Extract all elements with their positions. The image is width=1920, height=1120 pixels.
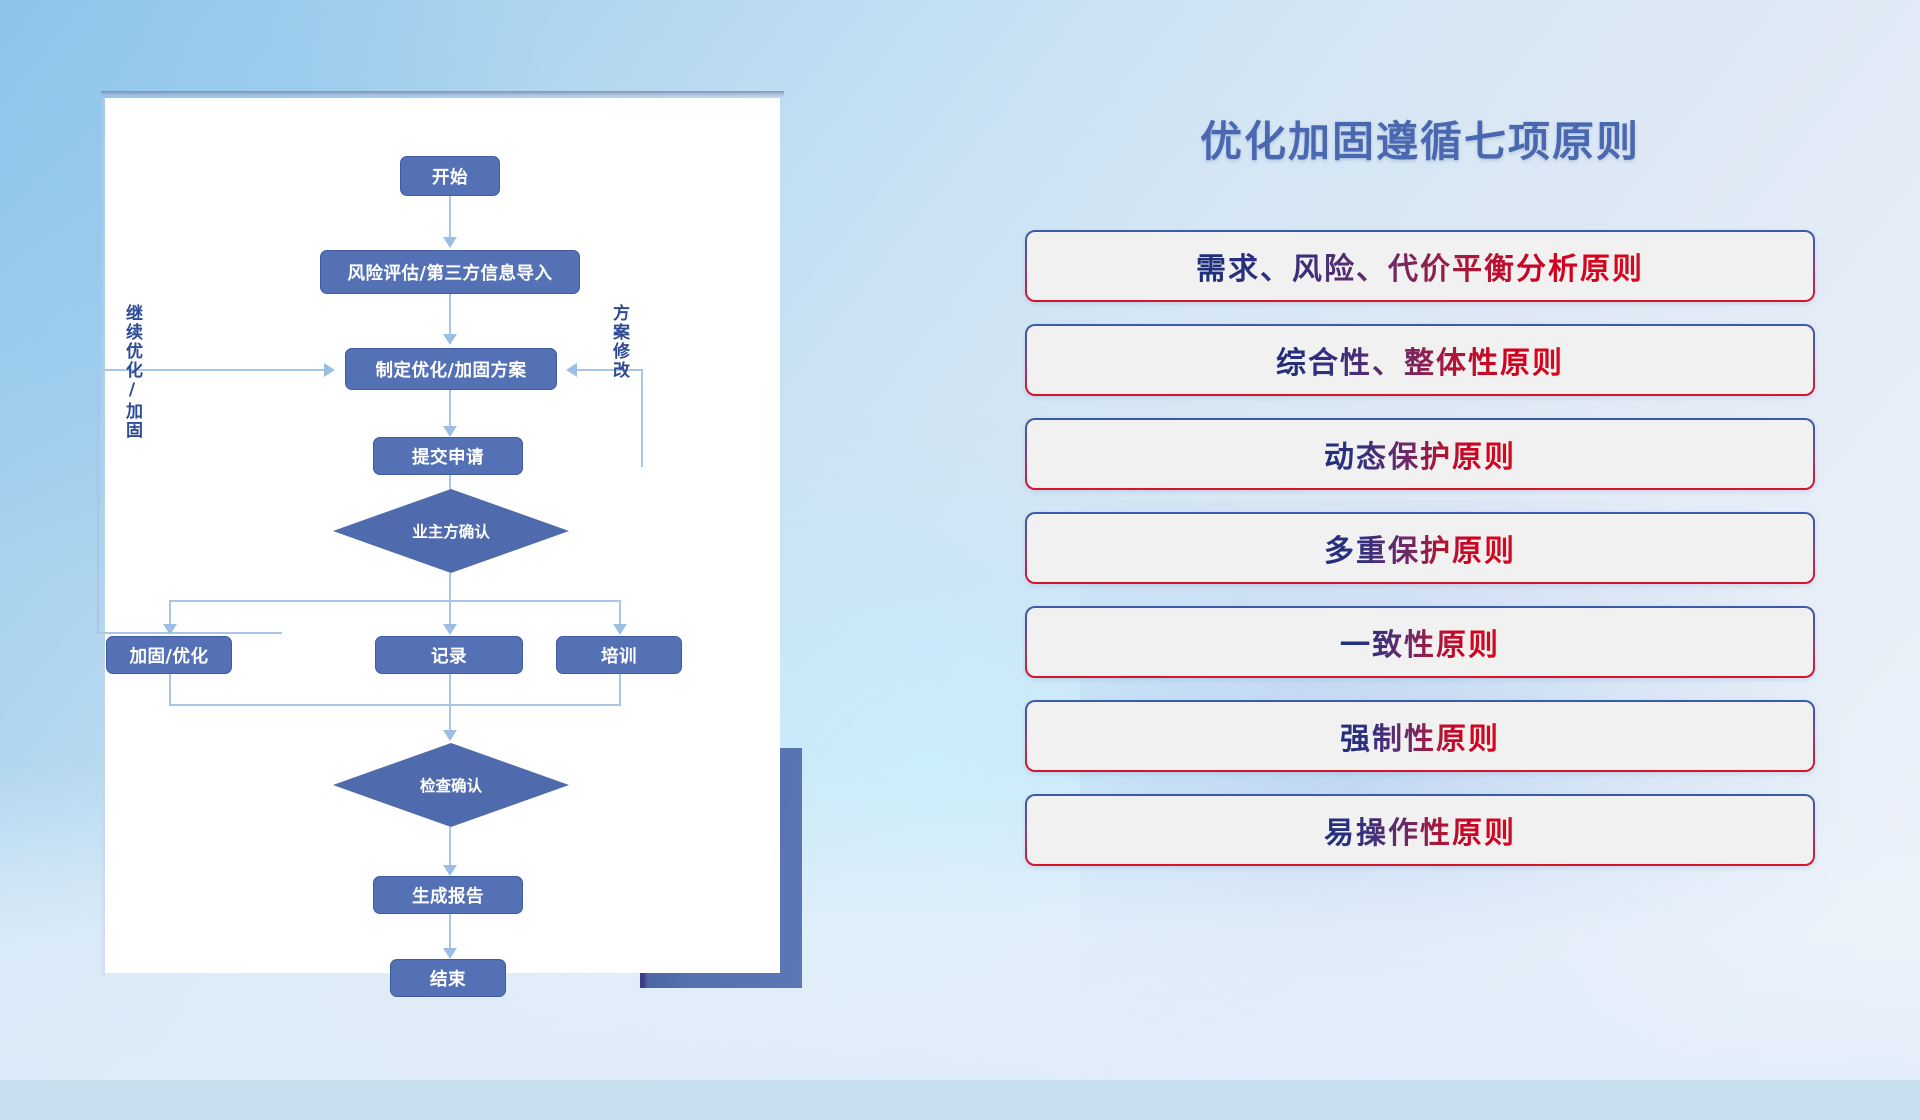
principle-item-6-label: 强制性原则 (1340, 714, 1500, 758)
connector-fanout-right (619, 600, 621, 626)
flow-node-check-confirm[interactable]: 检查确认 (333, 743, 569, 827)
principle-item-3[interactable]: 动态保护原则 (1025, 418, 1815, 490)
connector-fanout-left (169, 600, 171, 626)
flow-node-owner-confirm[interactable]: 业主方确认 (333, 489, 569, 573)
principles-panel-title: 优化加固遵循七项原则 (1010, 108, 1830, 169)
principle-item-1[interactable]: 需求、风险、代价平衡分析原则 (1025, 230, 1815, 302)
arrow-left-loop-into-plan (324, 363, 335, 377)
flow-node-plan[interactable]: 制定优化/加固方案 (345, 348, 557, 390)
connector-confirm-down (449, 573, 451, 601)
flow-node-risk-assessment[interactable]: 风险评估/第三方信息导入 (320, 250, 580, 294)
principle-item-2-label: 综合性、整体性原则 (1276, 338, 1564, 382)
connector-check-to-report (449, 827, 451, 867)
principles-panel: 优化加固遵循七项原则 需求、风险、代价平衡分析原则 综合性、整体性原则 动态保护… (1010, 80, 1830, 1010)
principle-item-5[interactable]: 一致性原则 (1025, 606, 1815, 678)
connector-fanout-center (449, 600, 451, 626)
arrow-check-to-report (443, 865, 457, 876)
flow-label-plan-revision: 方案修改 (610, 304, 627, 380)
flow-node-record[interactable]: 记录 (375, 636, 523, 674)
connector-report-to-end (449, 914, 451, 950)
flow-node-training[interactable]: 培训 (556, 636, 682, 674)
flow-label-continue-optimize: 继续优化/加固 (123, 304, 140, 440)
principle-item-7-label: 易操作性原则 (1324, 808, 1516, 852)
arrow-to-reinforce (163, 624, 177, 635)
flow-node-generate-report[interactable]: 生成报告 (373, 876, 523, 914)
connector-left-loop-bottom (97, 632, 282, 634)
connector-record-down (449, 674, 451, 732)
connector-training-down (619, 674, 621, 706)
principle-item-6[interactable]: 强制性原则 (1025, 700, 1815, 772)
arrow-start-to-risk (443, 237, 457, 248)
arrow-plan-to-submit (443, 426, 457, 437)
connector-right-loop-vertical (641, 369, 643, 467)
principle-item-7[interactable]: 易操作性原则 (1025, 794, 1815, 866)
principles-list: 需求、风险、代价平衡分析原则 综合性、整体性原则 动态保护原则 多重保护原则 一… (1025, 230, 1815, 888)
connector-risk-to-plan (449, 294, 451, 336)
arrow-to-check-confirm (443, 730, 457, 741)
arrow-risk-to-plan (443, 334, 457, 345)
connector-fanin-bar (169, 704, 621, 706)
principle-item-4[interactable]: 多重保护原则 (1025, 512, 1815, 584)
principle-item-4-label: 多重保护原则 (1324, 526, 1516, 570)
arrow-report-to-end (443, 948, 457, 959)
flow-node-submit[interactable]: 提交申请 (373, 437, 523, 475)
arrow-to-training (613, 624, 627, 635)
flow-node-end[interactable]: 结束 (390, 959, 506, 997)
flowchart-card: 开始 风险评估/第三方信息导入 制定优化/加固方案 继续优化/加固 方案修改 提… (105, 98, 780, 973)
flow-node-start[interactable]: 开始 (400, 156, 500, 196)
connector-plan-to-submit (449, 390, 451, 428)
flowchart-card-top-edge (101, 91, 784, 98)
principle-item-5-label: 一致性原则 (1340, 620, 1500, 664)
flowchart-diagram: 开始 风险评估/第三方信息导入 制定优化/加固方案 继续优化/加固 方案修改 提… (105, 98, 780, 973)
flow-node-reinforce[interactable]: 加固/优化 (106, 636, 232, 674)
connector-fanout-bar (169, 600, 621, 602)
connector-reinforce-down (169, 674, 171, 706)
principle-item-3-label: 动态保护原则 (1324, 432, 1516, 476)
connector-left-loop-vertical (97, 369, 99, 634)
principle-item-2[interactable]: 综合性、整体性原则 (1025, 324, 1815, 396)
arrow-right-loop-into-plan (566, 363, 577, 377)
principle-item-1-label: 需求、风险、代价平衡分析原则 (1196, 244, 1644, 288)
arrow-to-record (443, 624, 457, 635)
connector-start-to-risk (449, 196, 451, 239)
